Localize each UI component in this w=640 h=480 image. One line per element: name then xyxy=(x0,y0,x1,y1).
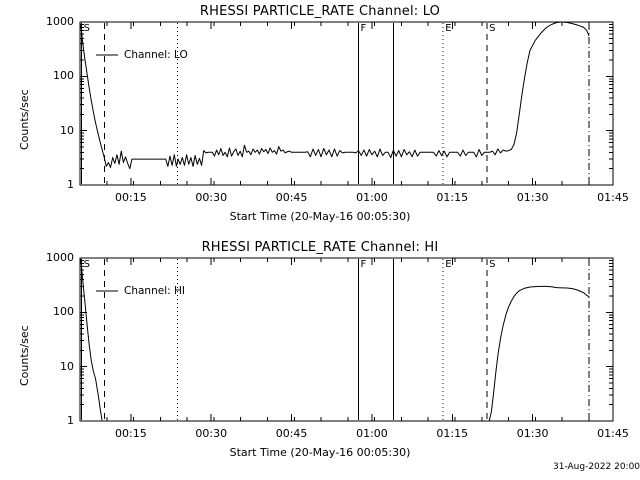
panel-hi-ylabel: Counts/sec xyxy=(18,325,31,386)
render-timestamp: 31-Aug-2022 20:00 xyxy=(553,462,640,472)
event-marker-label: S xyxy=(489,23,495,34)
x-tick-label: 01:00 xyxy=(342,427,402,440)
event-markers xyxy=(82,23,589,184)
data-series-line xyxy=(81,22,589,169)
y-tick-label: 100 xyxy=(0,305,74,318)
panel-hi-xlabel: Start Time (20-May-16 00:05:30) xyxy=(0,446,640,459)
x-tick-label: 01:15 xyxy=(422,191,482,204)
plot-frame xyxy=(80,258,613,421)
panel-lo-ylabel: Counts/sec xyxy=(18,89,31,150)
x-axis-ticks xyxy=(80,258,613,421)
y-tick-label: 1000 xyxy=(0,15,74,28)
x-tick-label: 00:45 xyxy=(262,191,322,204)
x-tick-label: 00:30 xyxy=(181,191,241,204)
x-tick-label: 00:15 xyxy=(101,191,161,204)
y-tick-label: 1000 xyxy=(0,251,74,264)
x-tick-label: 01:30 xyxy=(503,427,563,440)
panel-lo-plot-area xyxy=(0,0,640,240)
y-axis-ticks xyxy=(80,258,613,421)
panel-hi-legend-label: Channel: HI xyxy=(124,285,185,297)
event-marker-label: S xyxy=(489,259,495,270)
figure-root: RHESSI PARTICLE_RATE Channel: LO Counts/… xyxy=(0,0,640,480)
event-markers xyxy=(82,259,589,420)
y-tick-label: 1 xyxy=(0,178,74,191)
data-series-line xyxy=(81,259,589,421)
panel-lo-xlabel: Start Time (20-May-16 00:05:30) xyxy=(0,210,640,223)
x-tick-label: 01:45 xyxy=(583,191,640,204)
x-axis-ticks xyxy=(80,22,613,185)
y-tick-label: 10 xyxy=(0,360,74,373)
y-tick-label: 100 xyxy=(0,69,74,82)
x-tick-label: 00:30 xyxy=(181,427,241,440)
panel-hi-plot-area xyxy=(0,236,640,476)
x-tick-label: 01:45 xyxy=(583,427,640,440)
x-tick-label: 01:30 xyxy=(503,191,563,204)
event-marker-label: F xyxy=(361,23,367,34)
event-marker-label: E xyxy=(445,23,451,34)
y-tick-label: 10 xyxy=(0,124,74,137)
y-axis-ticks xyxy=(80,22,613,185)
x-tick-label: 01:00 xyxy=(342,191,402,204)
x-tick-label: 00:45 xyxy=(262,427,322,440)
x-tick-label: 00:15 xyxy=(101,427,161,440)
plot-frame xyxy=(80,22,613,185)
event-marker-label: F xyxy=(361,259,367,270)
event-marker-label: S xyxy=(84,23,90,34)
event-marker-label: E xyxy=(445,259,451,270)
panel-lo-legend-label: Channel: LO xyxy=(124,49,188,61)
x-tick-label: 01:15 xyxy=(422,427,482,440)
event-marker-label: S xyxy=(84,259,90,270)
y-tick-label: 1 xyxy=(0,414,74,427)
